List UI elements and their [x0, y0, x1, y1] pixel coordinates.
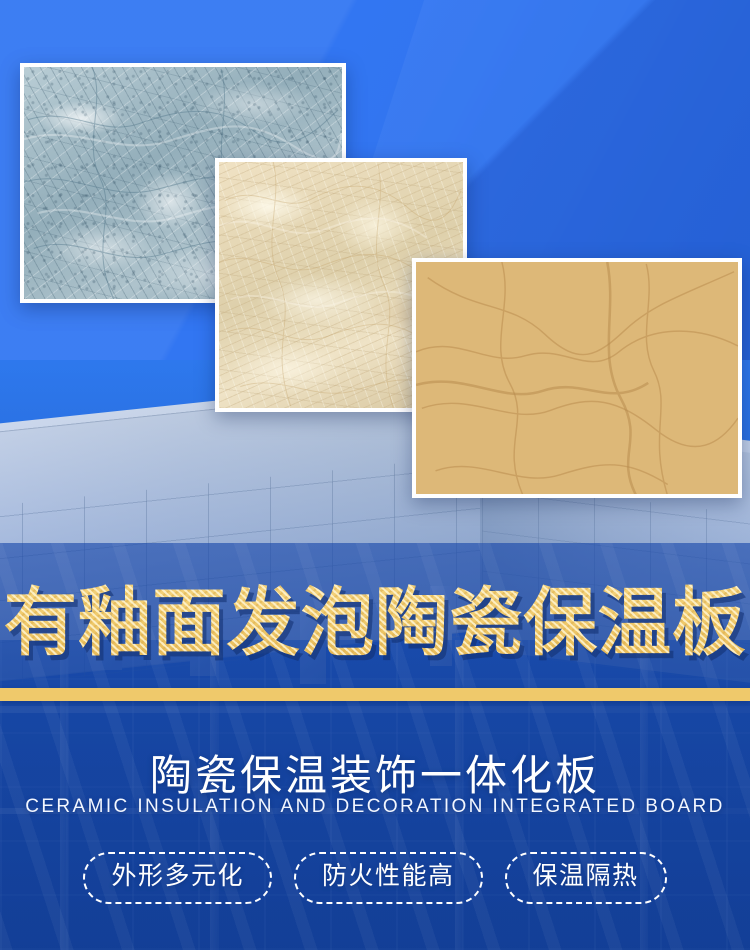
- feature-pill-3: 保温隔热: [505, 852, 667, 904]
- headline-title: 有釉面发泡陶瓷保温板: [4, 584, 747, 662]
- product-promo-banner: 有釉面发泡陶瓷保温板 陶瓷保温装饰一体化板 CERAMIC INSULATION…: [0, 0, 750, 950]
- feature-pill-1: 外形多元化: [83, 852, 272, 904]
- golden-tan-marble-tile: [412, 258, 742, 498]
- subtitle-english: CERAMIC INSULATION AND DECORATION INTEGR…: [0, 796, 750, 818]
- gold-divider-bar: [0, 688, 750, 701]
- marble-vein-overlay-3: [416, 262, 738, 496]
- subtitle-chinese: 陶瓷保温装饰一体化板: [0, 742, 750, 803]
- feature-pill-2: 防火性能高: [294, 852, 483, 904]
- feature-pill-group: 外形多元化 防火性能高 保温隔热: [0, 852, 750, 904]
